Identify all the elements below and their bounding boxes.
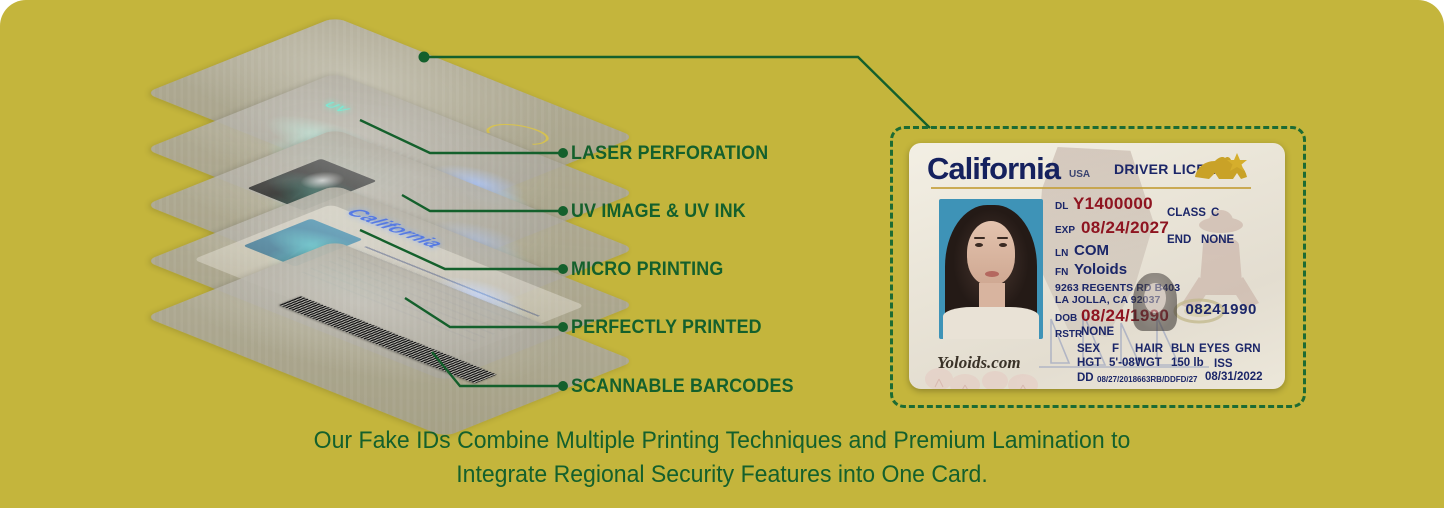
dd-key: DD xyxy=(1077,372,1094,384)
ln-value: COM xyxy=(1074,242,1109,259)
portrait-shirt xyxy=(943,307,1039,339)
wgt-value: 150 lb xyxy=(1171,357,1204,369)
card-header-rule xyxy=(931,187,1251,189)
id-card-dashed-frame: California USA DRIVER LICENSE xyxy=(890,126,1306,408)
promo-banner: UV California xyxy=(0,0,1444,508)
hair-value: BLN xyxy=(1171,343,1195,355)
exploded-card-stack: UV California xyxy=(120,20,590,400)
hgt-key: HGT xyxy=(1077,357,1101,369)
portrait-brow-left xyxy=(974,237,985,239)
bear-star-logo-icon xyxy=(1189,149,1259,187)
dob-key: DOB xyxy=(1055,313,1077,324)
dd-value: 08/27/2018663RB/DDFD/27 xyxy=(1097,375,1198,384)
ghost-portrait xyxy=(1131,271,1179,333)
card-usa-label: USA xyxy=(1069,169,1090,180)
feature-label-micro-printing: MICRO PRINTING xyxy=(571,259,723,281)
ln-key: LN xyxy=(1055,248,1068,259)
iss-value: 08/31/2022 xyxy=(1205,371,1263,383)
feature-label-laser-perforation: LASER PERFORATION xyxy=(571,143,768,165)
caption-line-2: Integrate Regional Security Features int… xyxy=(29,458,1415,492)
california-driver-license-card: California USA DRIVER LICENSE xyxy=(909,143,1285,389)
document-discriminator-number: 08241990 xyxy=(1185,301,1257,318)
dl-value: Y1400000 xyxy=(1073,194,1153,214)
feature-label-scannable-barcodes: SCANNABLE BARCODES xyxy=(571,376,794,398)
dl-key: DL xyxy=(1055,201,1068,212)
end-value: NONE xyxy=(1201,234,1234,246)
caption-line-1: Our Fake IDs Combine Multiple Printing T… xyxy=(29,424,1415,458)
rstr-key: RSTR xyxy=(1055,329,1082,340)
fn-value: Yoloids xyxy=(1074,261,1127,278)
exp-value: 08/24/2027 xyxy=(1081,218,1169,238)
eyes-value: GRN xyxy=(1235,343,1261,355)
end-key: END xyxy=(1167,234,1191,246)
feature-label-perfectly-printed: PERFECTLY PRINTED xyxy=(571,317,762,339)
primary-portrait-photo xyxy=(939,199,1043,339)
hair-key: HAIR xyxy=(1135,343,1163,355)
portrait-lips xyxy=(985,271,999,277)
ghost-portrait-face xyxy=(1144,283,1166,313)
promo-caption: Our Fake IDs Combine Multiple Printing T… xyxy=(29,424,1415,492)
portrait-neck xyxy=(979,283,1005,309)
exp-key: EXP xyxy=(1055,225,1075,236)
website-signature: Yoloids.com xyxy=(937,353,1021,373)
fn-key: FN xyxy=(1055,267,1068,278)
sex-value: F xyxy=(1112,343,1119,355)
sex-key: SEX xyxy=(1077,343,1100,355)
eyes-key: EYES xyxy=(1199,343,1230,355)
portrait-eye-right xyxy=(999,243,1007,247)
class-value: C xyxy=(1211,207,1219,219)
rstr-value: NONE xyxy=(1081,326,1114,338)
wgt-key: WGT xyxy=(1135,357,1162,369)
feature-label-uv-image-uv-ink: UV IMAGE & UV INK xyxy=(571,201,746,223)
portrait-brow-right xyxy=(997,237,1008,239)
iss-key: ISS xyxy=(1214,358,1233,370)
portrait-eye-left xyxy=(975,243,983,247)
class-key: CLASS xyxy=(1167,207,1206,219)
card-state-title: California xyxy=(927,151,1060,187)
